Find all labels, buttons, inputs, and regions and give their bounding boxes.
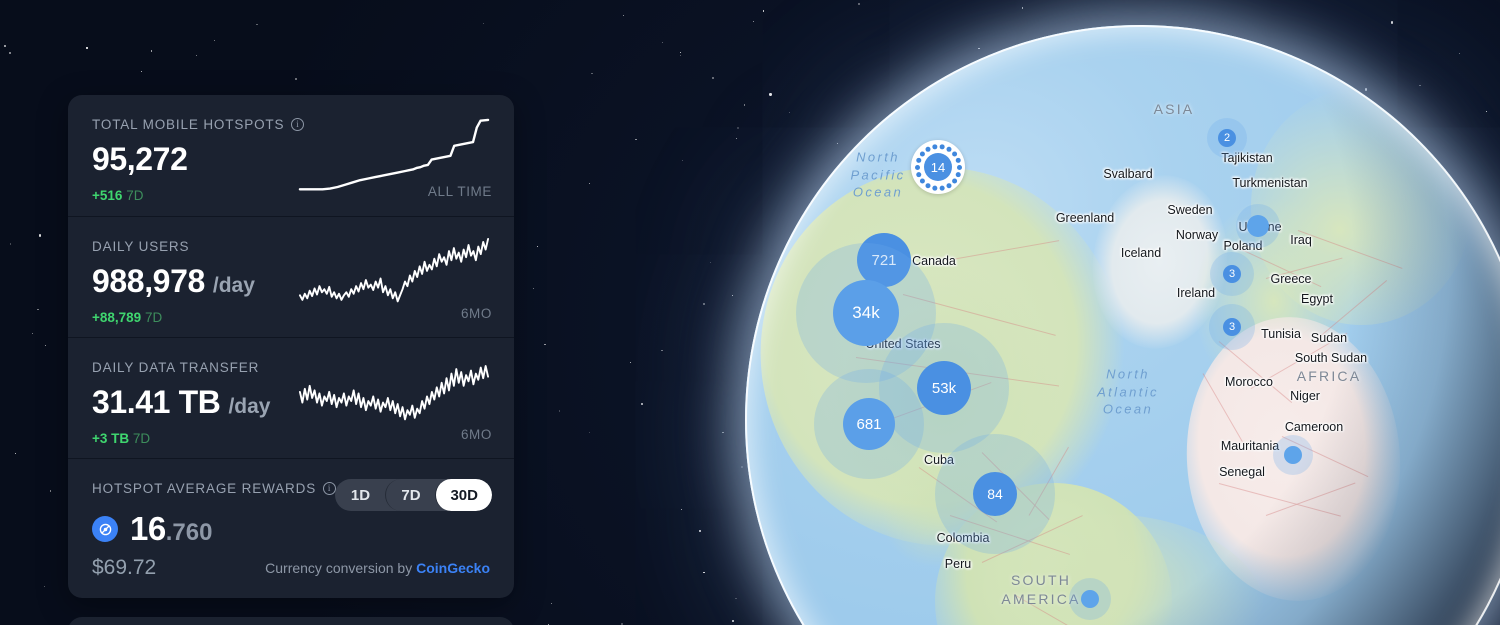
- marker-count-label: 3: [1223, 318, 1241, 336]
- credit-prefix: Currency conversion by: [265, 560, 416, 576]
- reward-usd-value: $69.72: [92, 556, 156, 580]
- stat-label-text: TOTAL MOBILE HOTSPOTS: [92, 117, 284, 132]
- marker-count-label: 84: [973, 472, 1017, 516]
- helium-token-icon: [92, 516, 118, 542]
- range-toggle-group[interactable]: 1D7D30D: [335, 479, 492, 511]
- sparkline-range-label: 6MO: [461, 306, 492, 321]
- stat-delta-value: +516: [92, 188, 122, 203]
- stat-delta-period: 7D: [126, 188, 143, 203]
- map-label-sudan: Sudan: [1311, 331, 1347, 345]
- map-label-africa: AFRICA: [1297, 368, 1362, 384]
- marker-count-label: 34k: [833, 280, 899, 346]
- stat-row-daily-users: DAILY USERS 988,978 /day +88,789 7D 6MO: [68, 216, 514, 337]
- dashboard-root: NorthPacificOceanNorthAtlanticOceanASIAA…: [0, 0, 1500, 625]
- sparkline-path: [300, 120, 488, 189]
- map-label-greenland: Greenland: [1056, 211, 1114, 225]
- reward-amount: 16 .760: [92, 510, 490, 548]
- map-label-sweden: Sweden: [1167, 203, 1212, 217]
- map-label-mauritania: Mauritania: [1221, 439, 1279, 453]
- range-toggle-7d[interactable]: 7D: [385, 479, 435, 511]
- rewards-footer: $69.72 Currency conversion by CoinGecko: [92, 556, 490, 580]
- marker-count-label: 681: [843, 398, 895, 450]
- map-label-norway: Norway: [1176, 228, 1218, 242]
- marker-count-label: 3: [1223, 265, 1241, 283]
- stat-delta-period: 7D: [133, 431, 150, 446]
- sparkline-path: [300, 366, 488, 419]
- stat-delta-value: +88,789: [92, 310, 141, 325]
- token-amount-integer: 16: [130, 510, 166, 548]
- stat-value-number: 31.41 TB: [92, 384, 220, 421]
- sparkline-daily-data-transfer[interactable]: 6MO: [296, 356, 492, 440]
- token-amount-fraction: .760: [166, 519, 213, 547]
- map-label-iceland: Iceland: [1121, 246, 1161, 260]
- stat-row-hotspot-average-rewards: HOTSPOT AVERAGE REWARDS i 1D7D30D 16 .76…: [68, 458, 514, 598]
- info-icon[interactable]: i: [323, 482, 336, 495]
- sparkline-daily-users[interactable]: 6MO: [296, 235, 492, 319]
- sparkline-range-label: ALL TIME: [428, 184, 492, 199]
- coingecko-link[interactable]: CoinGecko: [416, 560, 490, 576]
- map-label-north-pacific-ocean: NorthPacificOcean: [850, 149, 905, 202]
- sparkline-range-label: 6MO: [461, 427, 492, 442]
- map-label-morocco: Morocco: [1225, 375, 1273, 389]
- range-toggle-1d[interactable]: 1D: [335, 479, 385, 511]
- map-label-turkmenistan: Turkmenistan: [1232, 176, 1307, 190]
- stat-label-text: DAILY USERS: [92, 239, 189, 254]
- map-label-greece: Greece: [1271, 272, 1312, 286]
- marker-count-label: [1284, 446, 1302, 464]
- stat-delta-period: 7D: [145, 310, 162, 325]
- map-label-peru: Peru: [945, 557, 971, 571]
- stat-row-daily-data-transfer: DAILY DATA TRANSFER 31.41 TB /day +3 TB …: [68, 337, 514, 458]
- sparkline-path: [300, 239, 488, 301]
- stat-value-unit: /day: [228, 395, 270, 419]
- stat-delta-value: +3 TB: [92, 431, 129, 446]
- map-label-ireland: Ireland: [1177, 286, 1215, 300]
- map-label-tunisia: Tunisia: [1261, 327, 1301, 341]
- marker-count-label: [1081, 590, 1099, 608]
- currency-conversion-credit: Currency conversion by CoinGecko: [265, 560, 490, 576]
- sparkline-total-mobile-hotspots[interactable]: ALL TIME: [296, 113, 492, 197]
- token-amount: 16 .760: [130, 510, 212, 548]
- stat-row-total-mobile-hotspots: TOTAL MOBILE HOTSPOTS i 95,272 +516 7D A…: [68, 95, 514, 216]
- next-card-peek[interactable]: [68, 617, 514, 625]
- map-cluster-marker-ringed[interactable]: 14: [911, 140, 965, 194]
- marker-count-label: 2: [1218, 129, 1236, 147]
- range-toggle-30d[interactable]: 30D: [435, 479, 492, 511]
- stat-value-number: 95,272: [92, 141, 187, 178]
- stat-value-unit: /day: [213, 274, 255, 298]
- map-label-senegal: Senegal: [1219, 465, 1265, 479]
- marker-count-label: [1247, 215, 1269, 237]
- map-label-north-atlantic-ocean: NorthAtlanticOcean: [1097, 366, 1159, 419]
- stat-label-text: HOTSPOT AVERAGE REWARDS: [92, 481, 316, 496]
- stat-value-number: 988,978: [92, 263, 205, 300]
- map-label-svalbard: Svalbard: [1103, 167, 1152, 181]
- stats-card: TOTAL MOBILE HOTSPOTS i 95,272 +516 7D A…: [68, 95, 514, 598]
- landmass-asia: [1251, 88, 1472, 325]
- map-label-cameroon: Cameroon: [1285, 420, 1343, 434]
- map-label-south-sudan: South Sudan: [1295, 351, 1367, 365]
- map-label-asia: ASIA: [1154, 101, 1195, 117]
- map-label-iraq: Iraq: [1290, 233, 1312, 247]
- map-label-egypt: Egypt: [1301, 292, 1333, 306]
- map-label-niger: Niger: [1290, 389, 1320, 403]
- marker-count-label: 14: [924, 153, 952, 181]
- marker-count-label: 53k: [917, 361, 971, 415]
- stat-label-text: DAILY DATA TRANSFER: [92, 360, 259, 375]
